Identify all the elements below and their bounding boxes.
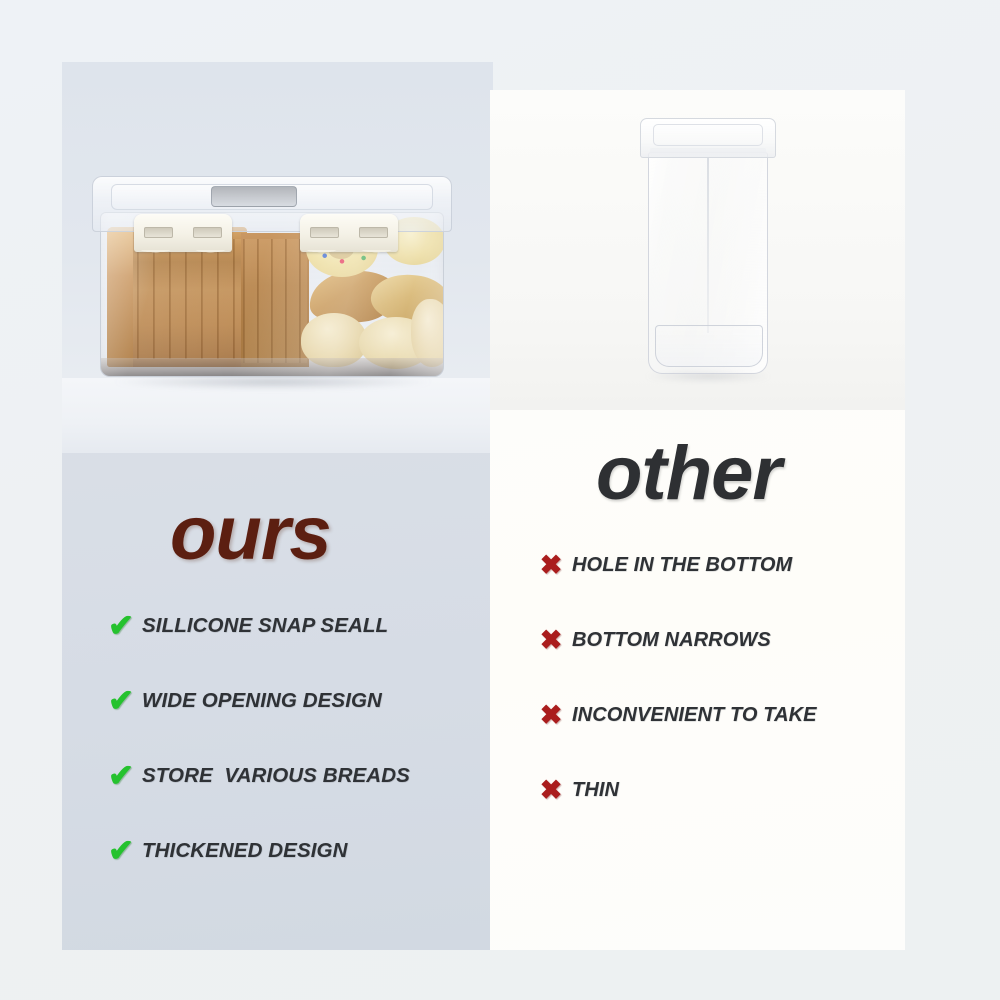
feature-label: THIN (572, 779, 619, 802)
bread-box-lid-handle (211, 186, 297, 207)
feature-row: ✔ SILLICONE SNAP SEALL (100, 588, 480, 663)
feature-label: INCONVENIENT TO TAKE (572, 704, 817, 727)
snap-latch (300, 214, 398, 252)
check-icon: ✔ (100, 835, 142, 866)
other-product-photo (490, 90, 905, 410)
feature-row: ✖ THIN (530, 753, 900, 828)
tall-container-lid-inset (653, 124, 763, 146)
feature-label: WIDE OPENING DESIGN (142, 689, 382, 713)
tall-container-lid (640, 118, 776, 158)
snap-latch (134, 214, 232, 252)
feature-row: ✖ INCONVENIENT TO TAKE (530, 678, 900, 753)
bread-crust (107, 227, 133, 367)
tall-narrow-container-image (628, 118, 788, 388)
other-panel: other ✖ HOLE IN THE BOTTOM ✖ BOTTOM NARR… (490, 90, 905, 950)
snap-latch-notch (134, 250, 232, 262)
bread-bun (411, 299, 444, 367)
other-heading: other (596, 430, 781, 517)
cross-icon: ✖ (530, 627, 572, 654)
other-feature-list: ✖ HOLE IN THE BOTTOM ✖ BOTTOM NARROWS ✖ … (530, 528, 900, 828)
tall-container-front-edge (707, 157, 709, 333)
ours-heading: ours (170, 490, 331, 577)
feature-label: HOLE IN THE BOTTOM (572, 554, 792, 577)
feature-row: ✔ WIDE OPENING DESIGN (100, 663, 480, 738)
ours-product-photo (62, 62, 493, 407)
ours-panel: ours ✔ SILLICONE SNAP SEALL ✔ WIDE OPENI… (62, 62, 493, 950)
cross-icon: ✖ (530, 702, 572, 729)
feature-row: ✖ BOTTOM NARROWS (530, 603, 900, 678)
check-icon: ✔ (100, 610, 142, 641)
feature-label: THICKENED DESIGN (142, 839, 347, 863)
tall-container-body (648, 152, 768, 374)
snap-latch-notch (300, 250, 398, 262)
ours-feature-list: ✔ SILLICONE SNAP SEALL ✔ WIDE OPENING DE… (100, 588, 480, 888)
feature-row: ✔ STORE VARIOUS BREADS (100, 738, 480, 813)
feature-label: SILLICONE SNAP SEALL (142, 614, 388, 638)
feature-label: BOTTOM NARROWS (572, 629, 771, 652)
comparison-infographic: ours ✔ SILLICONE SNAP SEALL ✔ WIDE OPENI… (0, 0, 1000, 1000)
bread-box-shadow (114, 375, 432, 389)
cross-icon: ✖ (530, 552, 572, 579)
feature-row: ✔ THICKENED DESIGN (100, 813, 480, 888)
check-icon: ✔ (100, 685, 142, 716)
sliced-bread-loaf-second (241, 233, 309, 367)
tall-container-narrow-bottom (655, 325, 763, 367)
ours-table-surface (62, 378, 493, 453)
feature-label: STORE VARIOUS BREADS (142, 764, 410, 788)
check-icon: ✔ (100, 760, 142, 791)
bread-storage-box-image (92, 170, 452, 385)
cross-icon: ✖ (530, 777, 572, 804)
bread-box-base-band (101, 358, 443, 376)
feature-row: ✖ HOLE IN THE BOTTOM (530, 528, 900, 603)
